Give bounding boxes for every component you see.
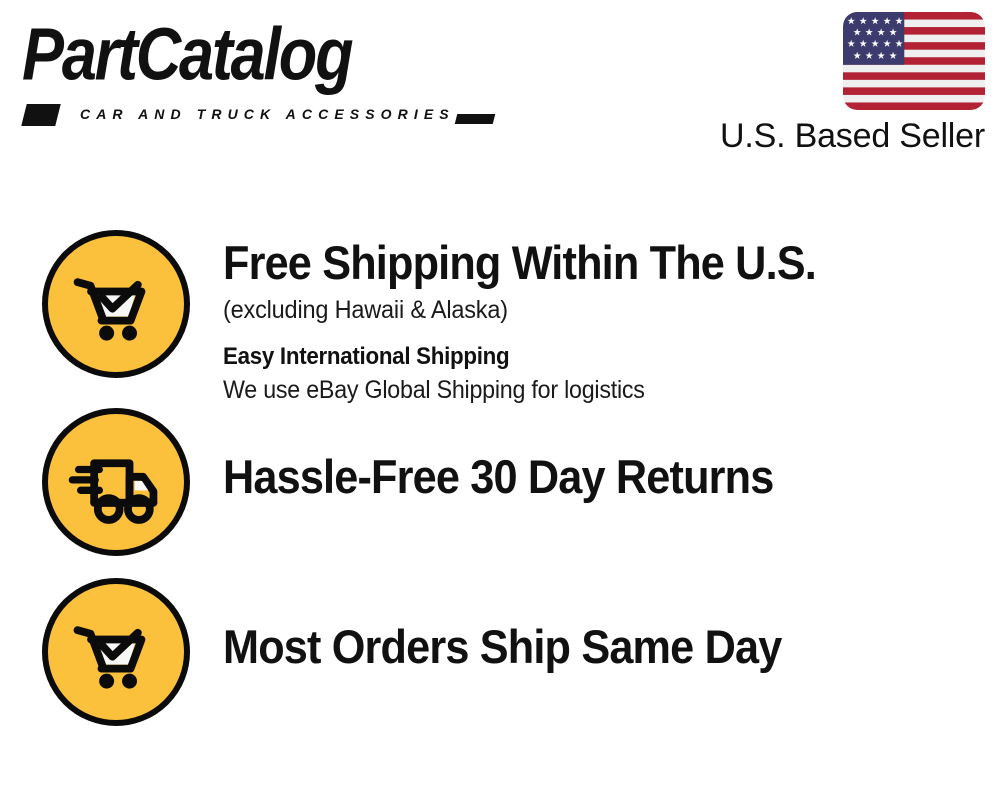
feature-row: Hassle-Free 30 Day Returns — [0, 408, 1000, 556]
feature-title: Free Shipping Within The U.S. — [223, 238, 938, 288]
shopping-cart-check-icon — [42, 578, 190, 726]
feature-note-bold: Easy International Shipping — [223, 343, 946, 371]
shipping-info-banner: PartCatalog CAR AND TRUCK ACCESSORIES — [0, 0, 1000, 800]
logo-right-accent-bar — [455, 114, 495, 124]
feature-row: Most Orders Ship Same Day — [0, 578, 1000, 726]
feature-title: Most Orders Ship Same Day — [223, 622, 938, 672]
brand-wordmark: PartCatalog — [22, 18, 351, 92]
feature-title: Hassle-Free 30 Day Returns — [223, 452, 938, 502]
brand-tagline: CAR AND TRUCK ACCESSORIES — [80, 106, 455, 122]
us-based-seller-label: U.S. Based Seller — [720, 117, 985, 156]
feature-subtitle: (excluding Hawaii & Alaska) — [223, 296, 953, 325]
feature-text-block: Most Orders Ship Same Day — [190, 578, 1000, 672]
shopping-cart-check-icon — [42, 230, 190, 378]
logo-left-accent-bar — [21, 104, 60, 126]
feature-row: Free Shipping Within The U.S. (excluding… — [0, 230, 1000, 405]
delivery-truck-icon — [42, 408, 190, 556]
feature-text-block: Hassle-Free 30 Day Returns — [190, 408, 1000, 502]
partcatalog-logo: PartCatalog CAR AND TRUCK ACCESSORIES — [22, 18, 492, 118]
feature-note: We use eBay Global Shipping for logistic… — [223, 376, 946, 405]
feature-text-block: Free Shipping Within The U.S. (excluding… — [190, 230, 1000, 405]
us-flag-icon — [843, 12, 985, 110]
